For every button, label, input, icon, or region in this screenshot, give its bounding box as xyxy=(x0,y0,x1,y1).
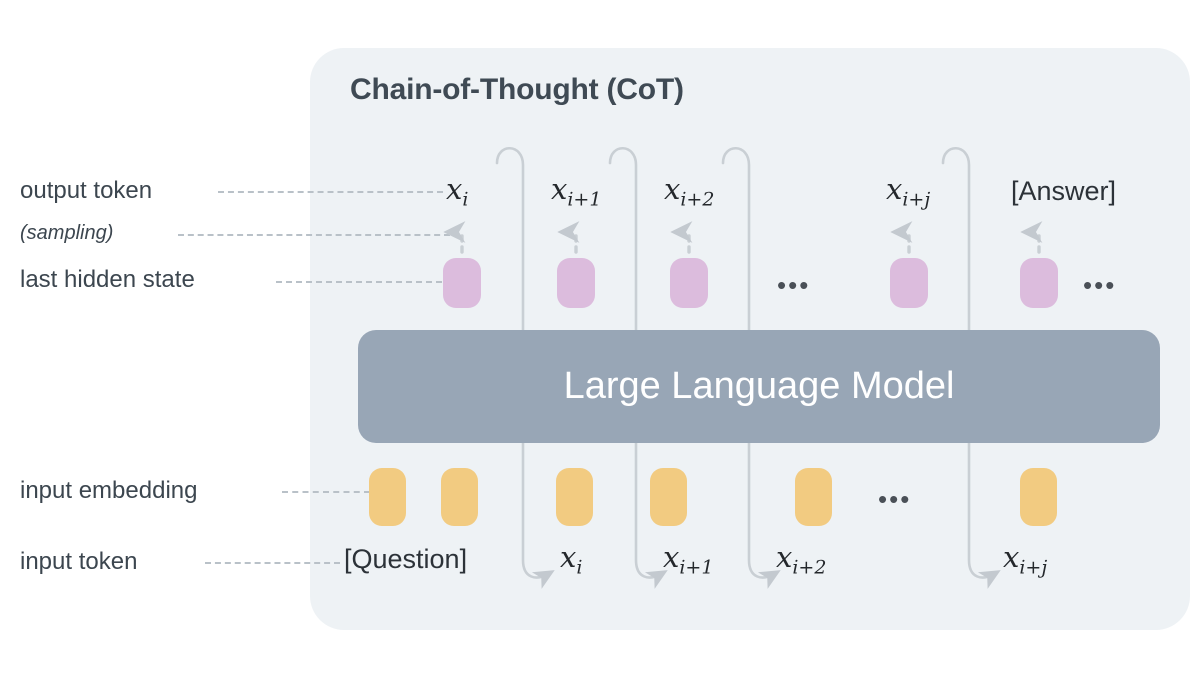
embedding-box-3 xyxy=(650,468,687,526)
output-token-3-base: x xyxy=(886,172,902,206)
label-output-token: output token xyxy=(20,177,152,205)
embedding-box-4 xyxy=(795,468,832,526)
label-input-embedding: input embedding xyxy=(20,477,197,505)
output-token-0-sub: i xyxy=(462,188,468,210)
input-token-2-sub: i+1 xyxy=(679,556,713,578)
embedding-box-0 xyxy=(369,468,406,526)
input-token-2-base: x xyxy=(663,540,679,574)
output-token-4: [Answer] xyxy=(1011,176,1116,207)
label-last-hidden-state: last hidden state xyxy=(20,266,195,294)
hidden-state-box-0 xyxy=(443,258,481,308)
input-token-4-base: x xyxy=(1003,540,1019,574)
output-token-3: xi+j xyxy=(886,172,930,210)
input-token-4: xi+j xyxy=(1003,540,1047,578)
output-token-2-sub: i+2 xyxy=(680,188,714,210)
hidden-state-box-1 xyxy=(557,258,595,308)
label-sampling: (sampling) xyxy=(20,222,113,245)
output-token-1-base: x xyxy=(551,172,567,206)
output-token-0-base: x xyxy=(446,172,462,206)
page-title: Chain-of-Thought (CoT) xyxy=(350,73,684,107)
embedding-box-5 xyxy=(1020,468,1057,526)
input-token-1-sub: i xyxy=(576,556,582,578)
leader-sampling xyxy=(178,234,450,236)
llm-block: Large Language Model xyxy=(358,330,1160,443)
hidden-state-ellipsis-1: ••• xyxy=(1083,272,1116,298)
output-token-3-sub: i+j xyxy=(902,188,930,210)
leader-hidden-state xyxy=(276,281,442,283)
input-token-0: [Question] xyxy=(344,544,467,575)
input-token-1: xi xyxy=(560,540,582,578)
hidden-state-box-4 xyxy=(1020,258,1058,308)
input-token-3: xi+2 xyxy=(776,540,826,578)
leader-output-token xyxy=(218,191,443,193)
hidden-state-box-3 xyxy=(890,258,928,308)
input-token-2: xi+1 xyxy=(663,540,713,578)
output-token-1-sub: i+1 xyxy=(567,188,601,210)
output-token-1: xi+1 xyxy=(551,172,601,210)
input-token-4-sub: i+j xyxy=(1019,556,1047,578)
leader-input-embedding xyxy=(282,491,370,493)
input-token-1-base: x xyxy=(560,540,576,574)
leader-input-token xyxy=(205,562,340,564)
input-token-3-base: x xyxy=(776,540,792,574)
output-token-2: xi+2 xyxy=(664,172,714,210)
diagram-canvas: Chain-of-Thought (CoT) output token (sam… xyxy=(0,0,1200,676)
output-token-0: xi xyxy=(446,172,468,210)
label-input-token: input token xyxy=(20,548,137,576)
hidden-state-ellipsis-0: ••• xyxy=(777,272,810,298)
llm-label: Large Language Model xyxy=(358,330,1160,443)
hidden-state-box-2 xyxy=(670,258,708,308)
embedding-ellipsis: ••• xyxy=(878,486,911,512)
embedding-box-2 xyxy=(556,468,593,526)
embedding-box-1 xyxy=(441,468,478,526)
output-token-2-base: x xyxy=(664,172,680,206)
input-token-3-sub: i+2 xyxy=(792,556,826,578)
